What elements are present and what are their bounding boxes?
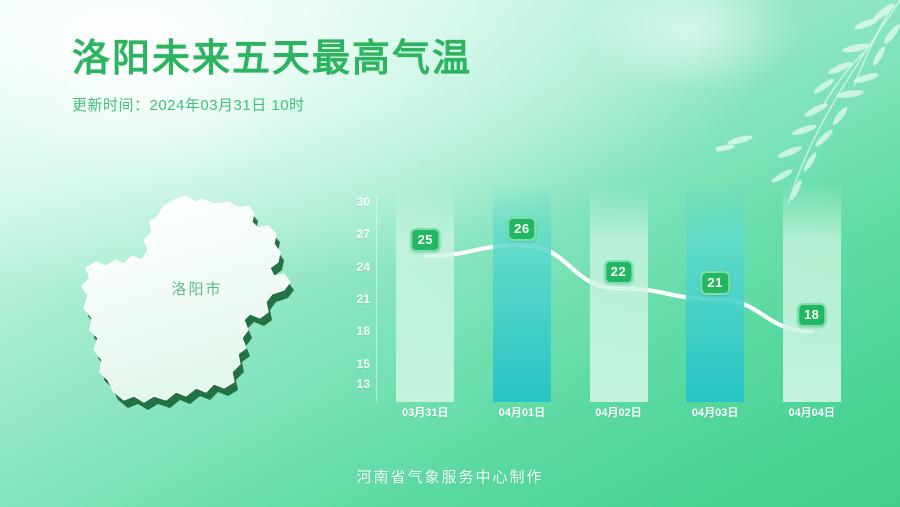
page-title: 洛阳未来五天最高气温 [72, 36, 472, 84]
x-tick-label: 04月02日 [595, 404, 641, 420]
x-tick-label: 04月03日 [692, 404, 738, 420]
y-tick-label: 13 [357, 377, 370, 391]
data-point-label: 21 [700, 271, 729, 295]
chart-backdrop-bar [396, 184, 454, 402]
y-tick-label: 15 [357, 357, 370, 371]
x-tick-label: 03月31日 [402, 404, 448, 420]
chart-backdrop-bar [590, 184, 648, 402]
y-axis: 30272421181513 [340, 196, 374, 402]
y-tick-label: 24 [357, 260, 370, 274]
header: 洛阳未来五天最高气温 更新时间：2024年03月31日 10时 [72, 36, 472, 115]
x-tick-label: 04月04日 [788, 404, 834, 420]
x-tick-label: 04月01日 [499, 404, 545, 420]
data-point-label: 26 [507, 217, 536, 241]
map-city-label: 洛阳市 [62, 278, 332, 299]
data-point-label: 25 [411, 228, 440, 252]
data-point-label: 18 [797, 303, 826, 327]
data-point-label: 22 [604, 260, 633, 284]
chart-backdrop-bar [783, 184, 841, 402]
x-axis: 03月31日04月01日04月02日04月03日04月04日 [377, 404, 860, 424]
y-tick-label: 30 [357, 195, 370, 209]
y-tick-label: 18 [357, 324, 370, 338]
plot-area: 2526222118 [377, 196, 860, 402]
luoyang-map-icon [62, 182, 332, 440]
weather-infographic: 洛阳未来五天最高气温 更新时间：2024年03月31日 10时 洛阳市 3027… [0, 0, 900, 507]
footer-credit: 河南省气象服务中心制作 [0, 466, 900, 487]
update-time-text: 更新时间：2024年03月31日 10时 [72, 94, 472, 115]
y-tick-label: 27 [357, 227, 370, 241]
cloud-decoration [560, 0, 820, 90]
y-tick-label: 21 [357, 292, 370, 306]
luoyang-map: 洛阳市 [62, 182, 332, 440]
temperature-chart: 30272421181513 2526222118 03月31日04月01日04… [340, 196, 860, 416]
